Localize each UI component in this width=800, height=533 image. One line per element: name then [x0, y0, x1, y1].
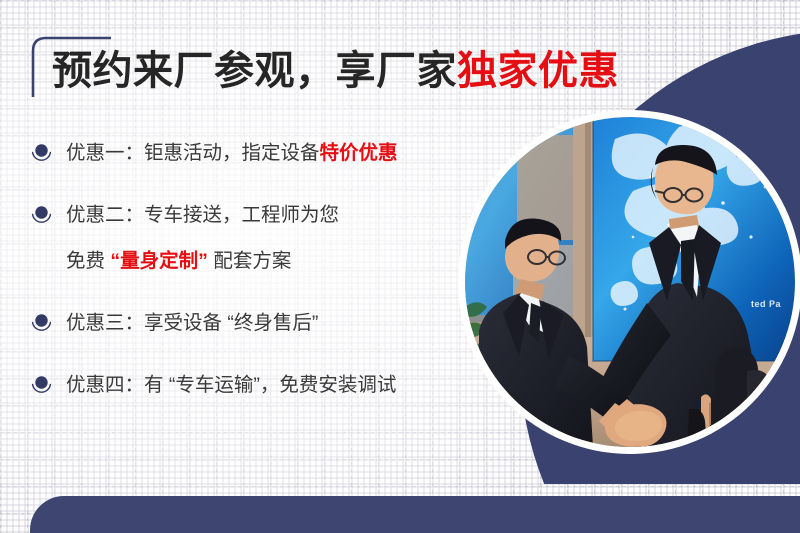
svg-text:ted Pa: ted Pa [751, 299, 782, 309]
hero-photo: g United ted Pa [465, 117, 795, 447]
ring-dot-icon [30, 142, 53, 164]
benefit-2-highlight: “量身定制” [110, 250, 208, 272]
benefit-list: 优惠一：钜惠活动，指定设备特价优惠 优惠二：专车接送，工程师为您 免费 “量身定… [30, 132, 460, 426]
benefit-2-text-3: 配套方案 [208, 250, 291, 272]
promo-poster: 预约来厂参观，享厂家独家优惠 [0, 0, 800, 533]
benefit-item-1: 优惠一：钜惠活动，指定设备特价优惠 [30, 132, 460, 174]
benefit-4-line-1: 优惠四：有 “专车运输”，免费安装调试 [66, 364, 460, 406]
benefit-2-line-2: 免费 “量身定制” 配套方案 [66, 240, 460, 282]
ring-dot-icon [30, 204, 53, 226]
benefit-4-text: 优惠四：有 “专车运输”，免费安装调试 [66, 374, 396, 396]
page-title: 预约来厂参观，享厂家独家优惠 [52, 46, 619, 96]
benefit-item-3: 优惠三：享受设备 “终身售后” [30, 302, 460, 344]
hero-photo-frame: g United ted Pa [465, 117, 795, 447]
benefit-item-4: 优惠四：有 “专车运输”，免费安装调试 [30, 364, 460, 406]
benefit-1-highlight: 特价优惠 [320, 142, 398, 164]
benefit-item-2: 优惠二：专车接送，工程师为您 免费 “量身定制” 配套方案 [30, 194, 460, 282]
benefit-2-text-1: 优惠二：专车接送，工程师为您 [66, 204, 339, 226]
benefit-1-line-1: 优惠一：钜惠活动，指定设备特价优惠 [66, 132, 460, 174]
handshake-photo-illustration: g United ted Pa [465, 117, 795, 447]
benefit-2-line-1: 优惠二：专车接送，工程师为您 [66, 194, 460, 236]
benefit-3-text: 优惠三：享受设备 “终身售后” [66, 312, 318, 334]
benefit-2-text-2: 免费 [66, 250, 110, 272]
ring-dot-icon [30, 312, 53, 334]
benefit-3-line-1: 优惠三：享受设备 “终身售后” [66, 302, 460, 344]
navy-bottom-bar [30, 496, 800, 533]
benefit-1-text: 优惠一：钜惠活动，指定设备 [66, 142, 320, 164]
ring-dot-icon [30, 374, 53, 396]
page-title-plain: 预约来厂参观，享厂家 [52, 49, 457, 93]
page-title-highlight: 独家优惠 [457, 49, 619, 93]
